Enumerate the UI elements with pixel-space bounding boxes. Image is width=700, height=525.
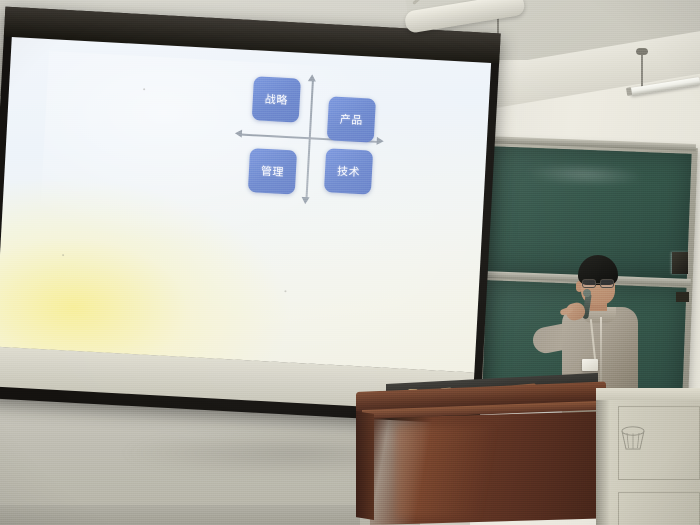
quadrant-matrix: 战略 产品 管理 技术 bbox=[231, 69, 388, 209]
light-rod bbox=[641, 52, 643, 90]
podium-sheen bbox=[396, 426, 506, 518]
glasses-lens-right bbox=[600, 279, 614, 288]
floor bbox=[0, 505, 360, 525]
quadrant-box-product: 产品 bbox=[327, 96, 376, 142]
glasses-lens-left bbox=[582, 279, 596, 288]
quadrant-box-management: 管理 bbox=[248, 148, 297, 194]
cabinet-shadow bbox=[596, 388, 610, 525]
cabinet-top bbox=[596, 388, 700, 400]
wooden-podium bbox=[356, 392, 606, 525]
light-canopy bbox=[636, 48, 648, 55]
presenter-name-badge bbox=[582, 359, 598, 371]
arrow-down-icon bbox=[301, 197, 309, 204]
arrow-left-icon bbox=[235, 129, 242, 137]
slide-speck bbox=[62, 254, 64, 256]
arrow-up-icon bbox=[308, 74, 316, 81]
slide-speck bbox=[284, 290, 286, 292]
lecture-hall-photo: 战略 产品 管理 技术 bbox=[0, 0, 700, 525]
quadrant-box-strategy: 战略 bbox=[252, 76, 301, 122]
arrow-right-icon bbox=[377, 137, 384, 145]
chalkboard-glare bbox=[524, 162, 645, 189]
glasses-icon bbox=[581, 279, 616, 288]
podium-side-panel bbox=[356, 411, 374, 520]
cabinet-panel-lower bbox=[618, 492, 700, 525]
projection-screen-surface: 战略 产品 管理 技术 bbox=[0, 37, 491, 373]
microphone-head bbox=[583, 289, 591, 297]
side-cabinet bbox=[596, 388, 700, 525]
slide: 战略 产品 管理 技术 bbox=[0, 37, 491, 373]
projection-screen-assembly: 战略 产品 管理 技术 bbox=[0, 0, 513, 444]
power-outlet[interactable] bbox=[676, 292, 689, 302]
light-switch[interactable] bbox=[672, 252, 688, 274]
slide-speck bbox=[143, 88, 145, 90]
vertical-axis bbox=[305, 79, 313, 201]
quadrant-box-technology: 技术 bbox=[324, 148, 373, 194]
waste-bin-icon bbox=[618, 424, 648, 452]
tube-end-cap bbox=[626, 87, 632, 96]
